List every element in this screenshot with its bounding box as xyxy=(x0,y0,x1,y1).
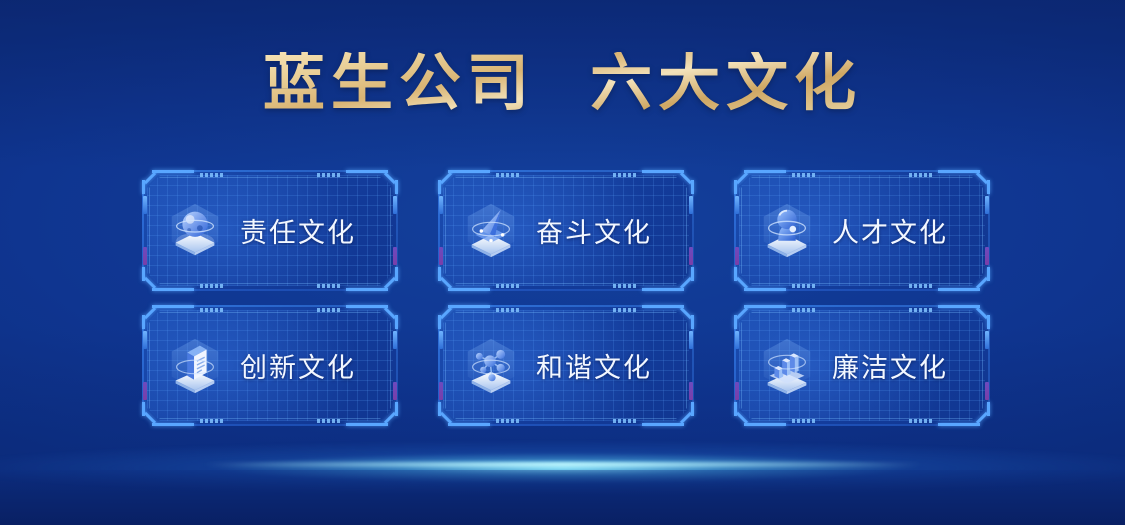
planet-sphere-icon xyxy=(164,200,226,262)
page-title-text: 蓝生公司 六大文化 xyxy=(263,52,862,114)
card-label: 和谐文化 xyxy=(536,346,652,385)
culture-card-grid: 责任文化 xyxy=(142,170,990,426)
culture-card-harmony[interactable]: 和谐文化 xyxy=(438,305,694,426)
card-label: 责任文化 xyxy=(240,211,356,250)
page-title: 蓝生公司 六大文化 xyxy=(0,52,1125,114)
card-content: 廉洁文化 xyxy=(734,305,990,426)
document-book-icon xyxy=(164,335,226,397)
card-content: 人才文化 xyxy=(734,170,990,291)
card-label: 廉洁文化 xyxy=(832,346,948,385)
person-talent-icon xyxy=(756,200,818,262)
bottom-light-beam xyxy=(0,440,1125,496)
molecule-network-icon xyxy=(460,335,522,397)
culture-card-innovation[interactable]: 创新文化 xyxy=(142,305,398,426)
sail-flag-icon xyxy=(460,200,522,262)
card-content: 责任文化 xyxy=(142,170,398,291)
bar-chart-buildings-icon xyxy=(756,335,818,397)
bottom-floor-gradient xyxy=(0,470,1125,525)
card-label: 奋斗文化 xyxy=(536,211,652,250)
culture-card-striving[interactable]: 奋斗文化 xyxy=(438,170,694,291)
card-content: 和谐文化 xyxy=(438,305,694,426)
card-content: 奋斗文化 xyxy=(438,170,694,291)
bottom-light-beam-core xyxy=(203,462,923,467)
card-content: 创新文化 xyxy=(142,305,398,426)
culture-card-talent[interactable]: 人才文化 xyxy=(734,170,990,291)
culture-card-responsibility[interactable]: 责任文化 xyxy=(142,170,398,291)
culture-card-integrity[interactable]: 廉洁文化 xyxy=(734,305,990,426)
card-label: 创新文化 xyxy=(240,346,356,385)
poster-canvas: 蓝生公司 六大文化 xyxy=(0,0,1125,525)
card-label: 人才文化 xyxy=(832,211,948,250)
